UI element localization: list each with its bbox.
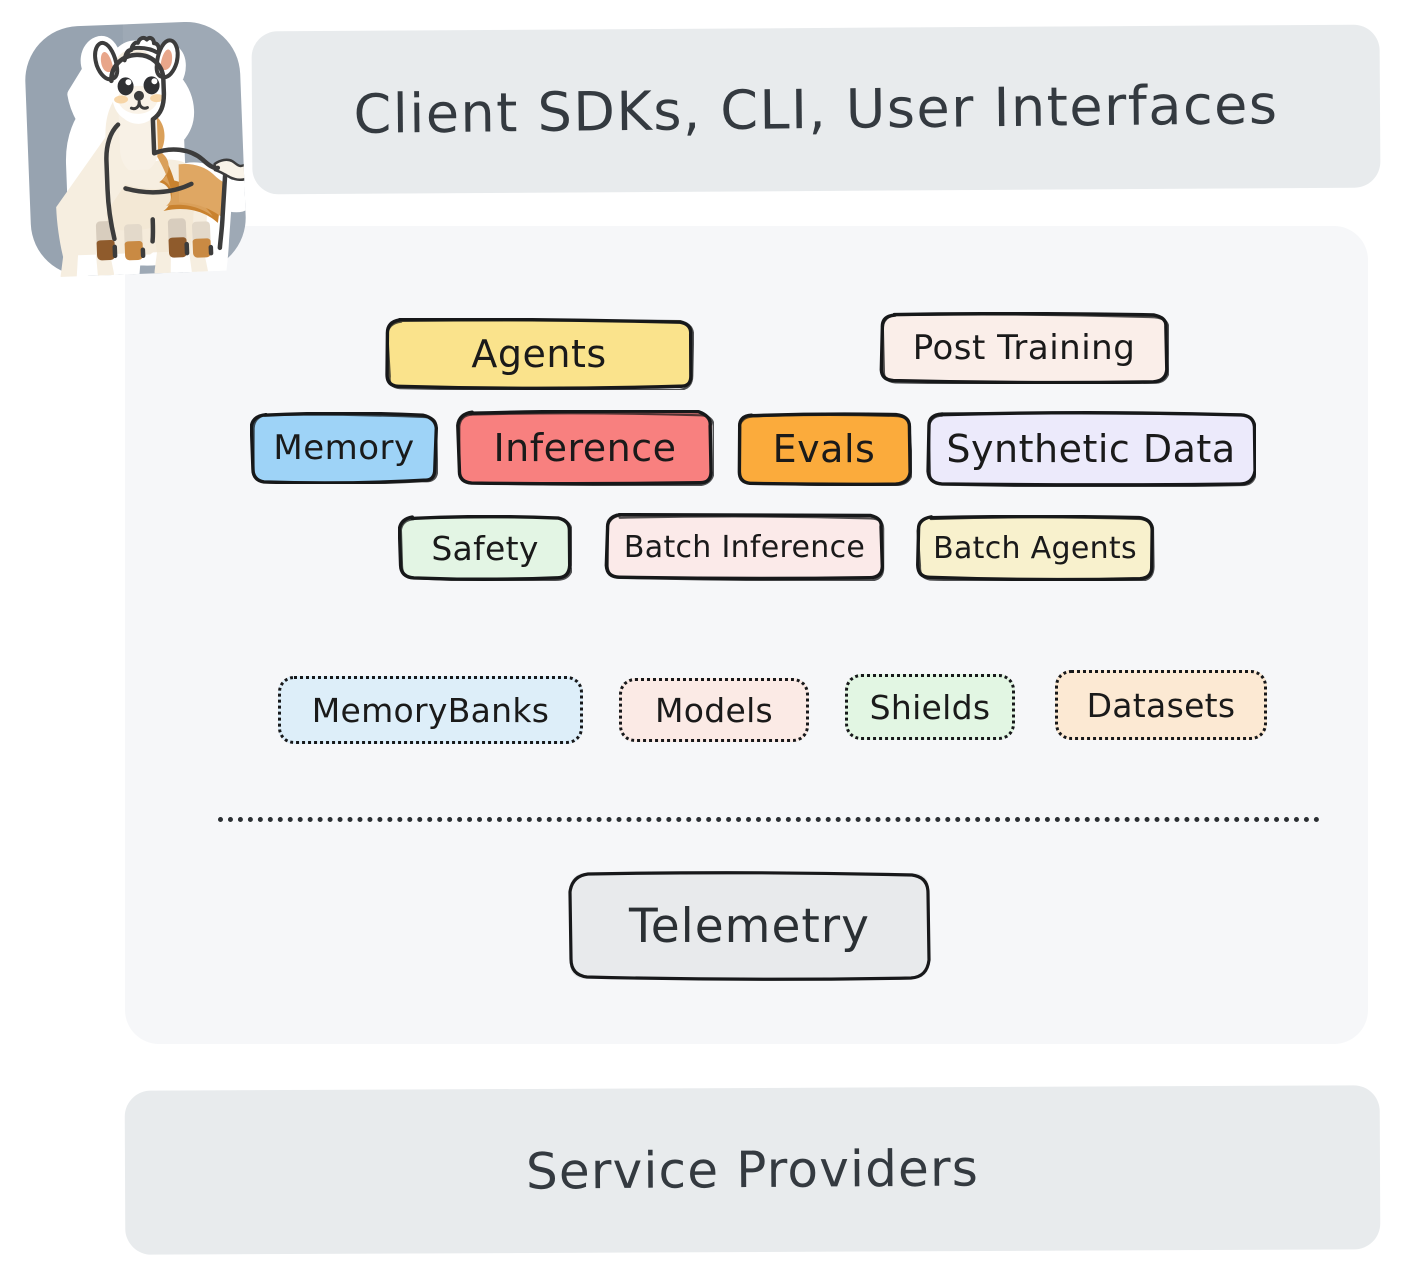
resource-box-shields-label: Shields	[870, 688, 991, 727]
telemetry-label: Telemetry	[629, 899, 870, 954]
resource-box-memorybanks[interactable]: MemoryBanks	[278, 676, 583, 744]
api-box-memory[interactable]: Memory	[250, 412, 438, 484]
api-box-safety-label: Safety	[431, 529, 538, 568]
resource-box-datasets-label: Datasets	[1087, 686, 1236, 725]
api-box-post-training[interactable]: Post Training	[879, 312, 1169, 384]
api-box-inference[interactable]: Inference	[456, 410, 714, 486]
api-box-batch-inference[interactable]: Batch Inference	[604, 513, 885, 581]
llama-logo-icon	[23, 20, 247, 278]
resource-box-datasets[interactable]: Datasets	[1055, 670, 1267, 740]
resource-box-models[interactable]: Models	[619, 678, 809, 742]
api-box-batch-agents-label: Batch Agents	[933, 531, 1137, 566]
api-box-safety[interactable]: Safety	[398, 515, 572, 581]
api-box-post-training-label: Post Training	[913, 328, 1136, 368]
api-box-synthetic-data-label: Synthetic Data	[946, 427, 1235, 471]
resource-box-models-label: Models	[655, 691, 773, 730]
api-box-batch-inference-label: Batch Inference	[624, 530, 865, 565]
resource-box-shields[interactable]: Shields	[845, 674, 1015, 740]
service-providers-title: Service Providers	[124, 1084, 1380, 1257]
api-box-memory-label: Memory	[273, 428, 414, 468]
section-divider	[218, 817, 1320, 822]
page-title: Client SDKs, CLI, User Interfaces	[251, 22, 1381, 197]
api-box-agents[interactable]: Agents	[384, 318, 694, 390]
api-box-evals-label: Evals	[773, 427, 876, 471]
api-box-batch-agents[interactable]: Batch Agents	[915, 515, 1155, 581]
resource-box-memorybanks-label: MemoryBanks	[312, 691, 550, 730]
api-box-evals[interactable]: Evals	[736, 412, 912, 486]
api-box-inference-label: Inference	[493, 426, 676, 470]
api-box-synthetic-data[interactable]: Synthetic Data	[926, 411, 1256, 487]
telemetry-box[interactable]: Telemetry	[568, 871, 931, 981]
api-box-agents-label: Agents	[471, 332, 606, 376]
